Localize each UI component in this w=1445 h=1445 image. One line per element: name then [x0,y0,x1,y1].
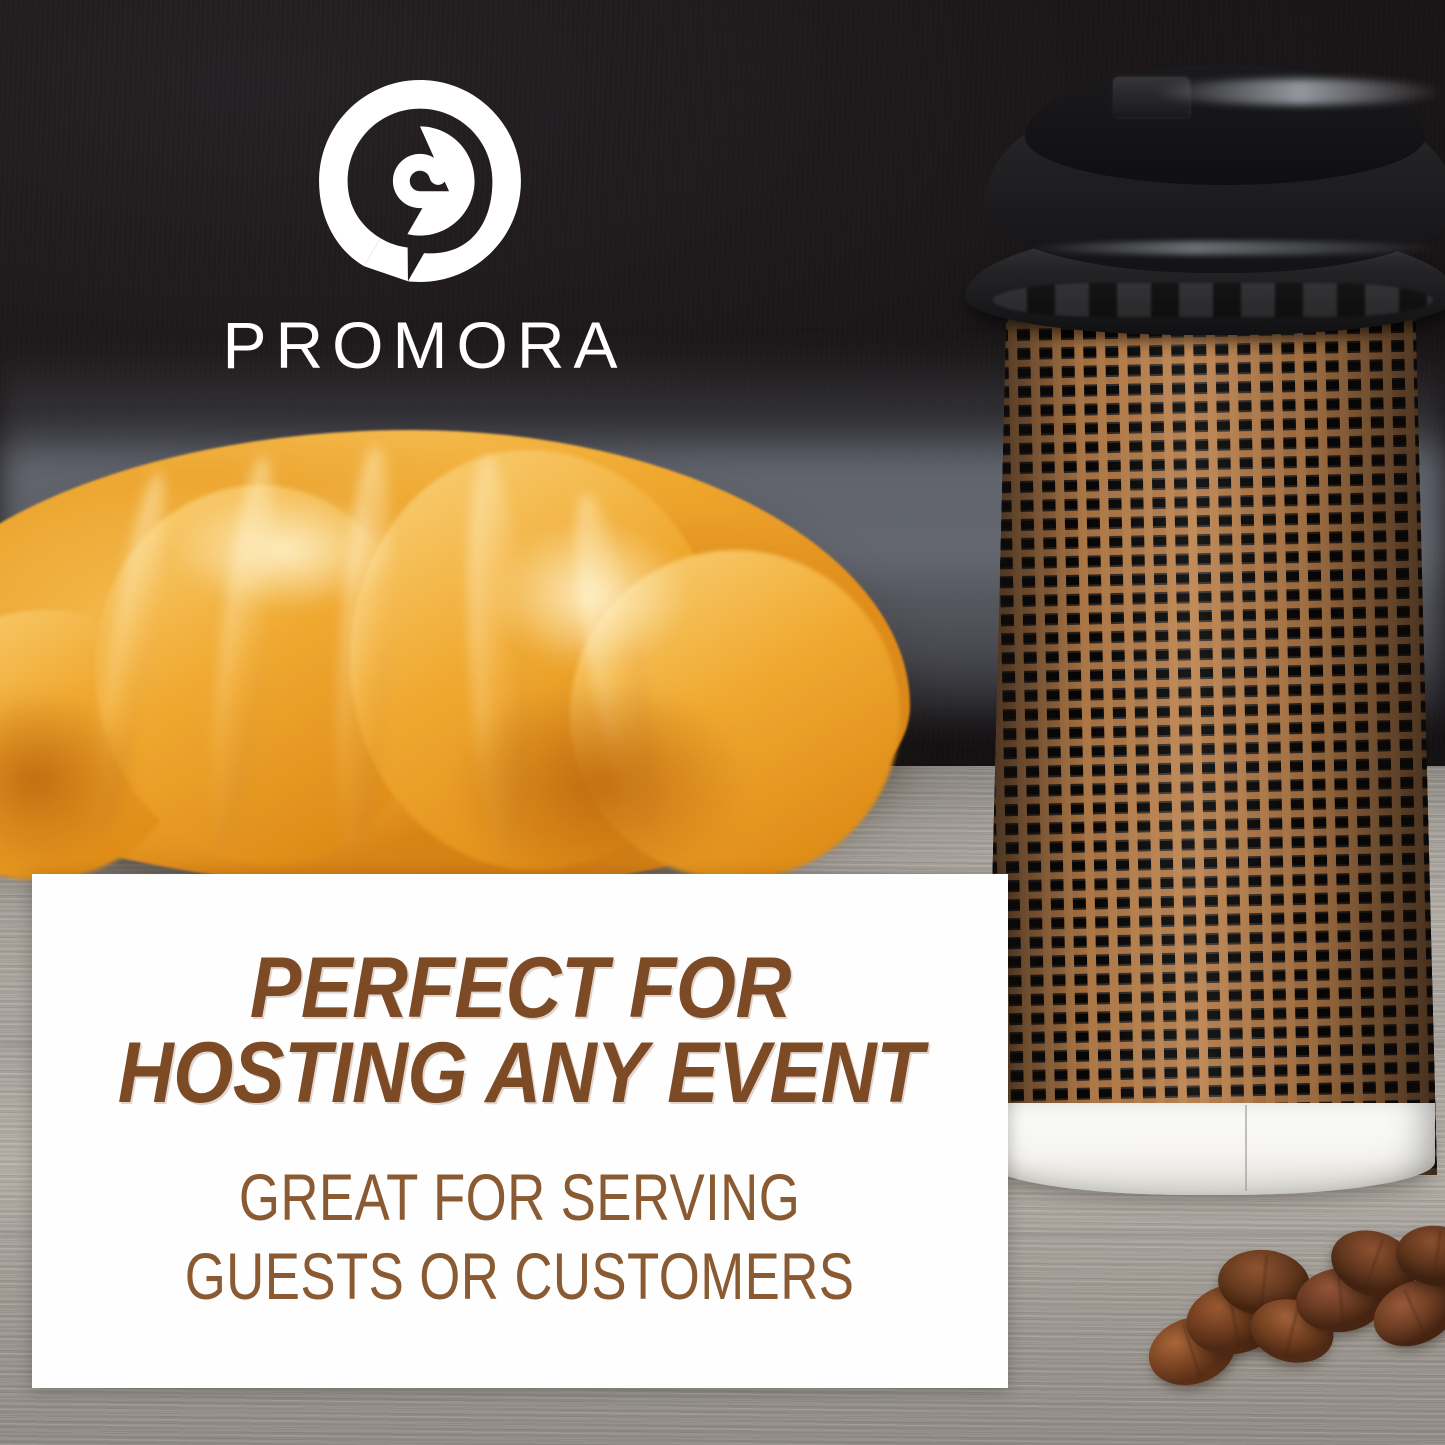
callout-headline: PERFECT FOR HOSTING ANY EVENT [117,946,922,1116]
croissant [0,430,910,890]
coffee-cup [965,55,1445,1205]
cup-lid-rim-notches [993,283,1433,317]
callout-card: PERFECT FOR HOSTING ANY EVENT GREAT FOR … [32,874,1008,1388]
cup-body [985,270,1437,1175]
cup-base-seam [1245,1105,1247,1191]
croissant-highlight [170,490,400,610]
cup-base-band [987,1103,1435,1195]
spiral-swirl-logo-icon [317,78,523,284]
callout-subheadline: GREAT FOR SERVING GUESTS OR CUSTOMERS [185,1158,855,1316]
croissant-highlight [490,520,690,670]
croissant-shade [450,680,750,890]
cup-lid-highlight [1025,241,1445,255]
brand-block: PROMORA [190,78,650,378]
brand-wordmark: PROMORA [190,312,650,378]
cup-body-shading [985,270,1437,1175]
cup-lid-highlight [1155,79,1445,105]
product-marketing-image: PROMORA PERFECT FOR HOSTING ANY EVENT GR… [0,0,1445,1445]
